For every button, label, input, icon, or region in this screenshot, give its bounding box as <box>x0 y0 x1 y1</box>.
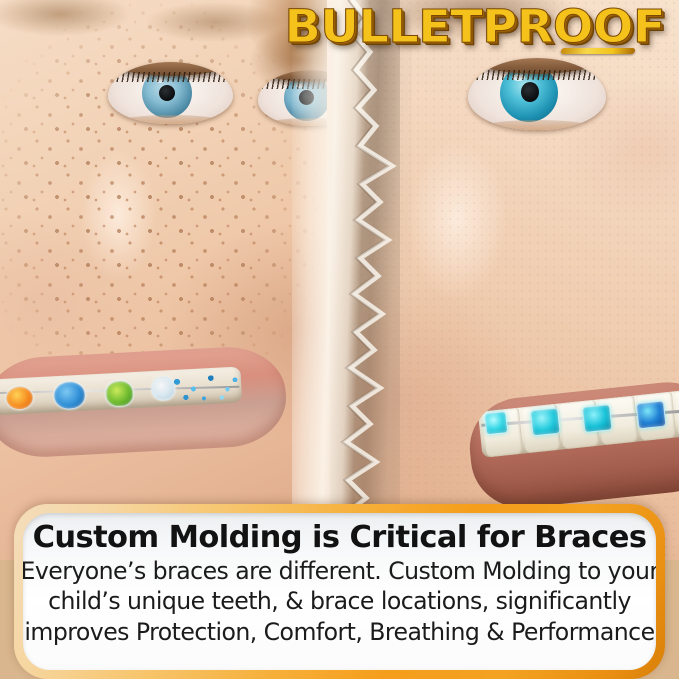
left-face-teeth <box>0 366 242 415</box>
bulletproof-logo: BULLETPROOF <box>284 4 665 49</box>
info-panel: Custom Molding is Critical for Braces Ev… <box>23 513 656 670</box>
eyelashes <box>468 70 606 80</box>
pupil <box>159 85 175 101</box>
panel-headline: Custom Molding is Critical for Braces <box>33 522 647 554</box>
info-panel-border: Custom Molding is Critical for Braces Ev… <box>14 504 665 679</box>
panel-body-text: Everyone’s braces are different. Custom … <box>23 556 656 648</box>
brace-bracket-orange <box>5 385 34 410</box>
brace-bracket-teal <box>530 408 561 437</box>
brace-bracket-blue <box>636 401 667 430</box>
left-face-mouth <box>0 344 288 460</box>
underline-swoosh-icon <box>560 48 635 54</box>
pupil <box>521 82 539 102</box>
brace-bracket-blue <box>53 381 86 411</box>
product-ad-image: BULLETPROOF Custom Molding is Critical f… <box>0 0 679 679</box>
brace-bracket-teal <box>484 411 508 435</box>
pupil <box>299 90 314 105</box>
eyelashes <box>108 72 233 82</box>
brace-bracket-green <box>105 380 134 407</box>
right-face-eye <box>468 58 606 130</box>
brace-bracket-teal <box>582 404 613 433</box>
left-face-eye-near <box>108 62 233 124</box>
panel-body-line: child’s unique teeth, & brace locations,… <box>23 586 656 617</box>
brace-bracket-speckles <box>169 370 244 404</box>
panel-body-line: Everyone’s braces are different. Custom … <box>23 556 656 587</box>
panel-body-line: improves Protection, Comfort, Breathing … <box>23 617 656 648</box>
